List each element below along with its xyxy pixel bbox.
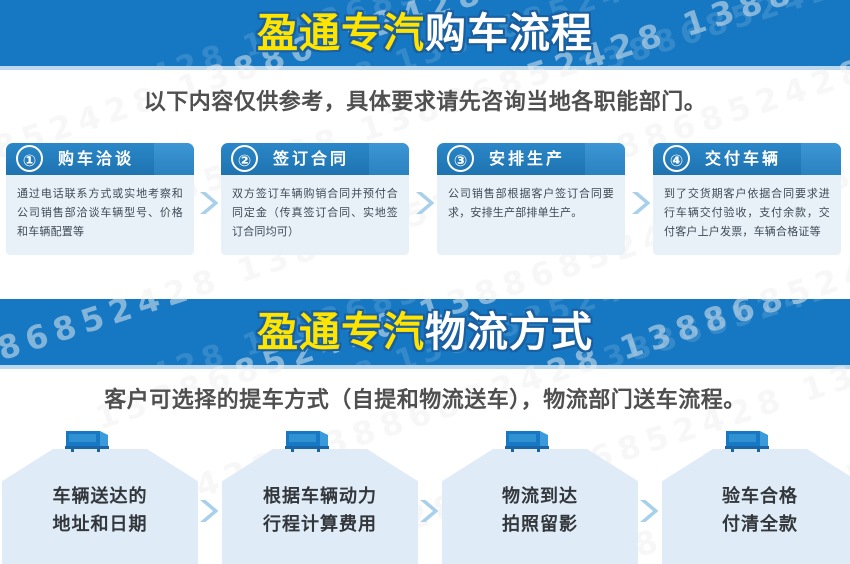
step-body-text: 双方签订车辆购销合同并预付合同定金（传真签订合同、实地签订合同均可） — [221, 175, 409, 255]
promo-page: 13886852428 13886852428 13886852428 1388… — [0, 0, 850, 564]
logistics-steps-row: 车辆送达的 地址和日期 根据车辆动力 行程计算费用 — [0, 425, 850, 564]
logistics-card-line-2: 行程计算费用 — [222, 511, 418, 539]
purchase-step-card-1[interactable]: ① 购车洽谈 通过电话联系方式或实地考察和公司销售部洽谈车辆型号、价格和车辆配置… — [6, 143, 194, 255]
logistics-card-text: 验车合格 付清全款 — [662, 483, 850, 539]
purchase-banner-heading: 购车流程 — [425, 9, 593, 57]
logistics-card-text: 物流到达 拍照留影 — [442, 483, 638, 539]
purchase-step-card-4[interactable]: ④ 交付车辆 到了交货期客户依据合同要求进行车辆交付验收，支付余款，交付客户上户… — [653, 143, 841, 255]
purchase-banner-brand: 盈通专汽 — [257, 9, 425, 57]
step-number-badge: ③ — [447, 145, 474, 172]
purchase-step-header-3: ③ 安排生产 — [437, 143, 625, 175]
step-title: 购车洽谈 — [58, 143, 134, 175]
purchase-steps-row: ① 购车洽谈 通过电话联系方式或实地考察和公司销售部洽谈车辆型号、价格和车辆配置… — [0, 143, 850, 258]
truck-icon — [64, 427, 118, 453]
logistics-card-line-1: 根据车辆动力 — [222, 483, 418, 511]
chevron-right-icon — [196, 189, 218, 217]
truck-icon — [284, 427, 338, 453]
logistics-banner-title: 盈通专汽物流方式 — [0, 299, 850, 365]
purchase-step-header-1: ① 购车洽谈 — [6, 143, 194, 175]
logistics-card-text: 根据车辆动力 行程计算费用 — [222, 483, 418, 539]
step-title: 签订合同 — [273, 143, 349, 175]
chevron-right-icon — [196, 497, 218, 525]
logistics-step-card-4[interactable]: 验车合格 付清全款 — [662, 425, 850, 564]
purchase-step-card-3[interactable]: ③ 安排生产 公司销售部根据客户签订合同要求，安排生产部排单生产。 — [437, 143, 625, 255]
purchase-step-header-2: ② 签订合同 — [221, 143, 409, 175]
step-number-badge: ④ — [663, 145, 690, 172]
purchase-banner-title: 盈通专汽购车流程 — [0, 0, 850, 66]
logistics-card-line-2: 地址和日期 — [2, 511, 198, 539]
step-title: 交付车辆 — [705, 143, 781, 175]
step-body-text: 到了交货期客户依据合同要求进行车辆交付验收，支付余款，交付客户上户发票，车辆合格… — [653, 175, 841, 255]
logistics-card-line-1: 物流到达 — [442, 483, 638, 511]
step-number-badge: ① — [16, 145, 43, 172]
purchase-step-card-2[interactable]: ② 签订合同 双方签订车辆购销合同并预付合同定金（传真签订合同、实地签订合同均可… — [221, 143, 409, 255]
logistics-step-card-1[interactable]: 车辆送达的 地址和日期 — [2, 425, 198, 564]
logistics-banner: 13886852428 13886852428 13886852428 1388… — [0, 299, 850, 369]
truck-icon — [724, 427, 778, 453]
step-body-text: 公司销售部根据客户签订合同要求，安排生产部排单生产。 — [437, 175, 625, 255]
truck-icon — [504, 427, 558, 453]
logistics-subtitle: 客户可选择的提车方式（自提和物流送车），物流部门送车流程。 — [0, 382, 850, 414]
logistics-banner-brand: 盈通专汽 — [257, 308, 425, 356]
chevron-right-icon — [416, 497, 438, 525]
chevron-right-icon — [628, 189, 650, 217]
logistics-step-card-2[interactable]: 根据车辆动力 行程计算费用 — [222, 425, 418, 564]
logistics-banner-heading: 物流方式 — [425, 308, 593, 356]
logistics-card-line-2: 拍照留影 — [442, 511, 638, 539]
logistics-card-line-2: 付清全款 — [662, 511, 850, 539]
logistics-card-text: 车辆送达的 地址和日期 — [2, 483, 198, 539]
chevron-right-icon — [412, 189, 434, 217]
chevron-right-icon — [636, 497, 658, 525]
logistics-card-line-1: 验车合格 — [662, 483, 850, 511]
purchase-step-header-4: ④ 交付车辆 — [653, 143, 841, 175]
step-body-text: 通过电话联系方式或实地考察和公司销售部洽谈车辆型号、价格和车辆配置等 — [6, 175, 194, 255]
purchase-subtitle: 以下内容仅供参考，具体要求请先咨询当地各职能部门。 — [0, 84, 850, 116]
logistics-step-card-3[interactable]: 物流到达 拍照留影 — [442, 425, 638, 564]
step-number-badge: ② — [231, 145, 258, 172]
logistics-card-line-1: 车辆送达的 — [2, 483, 198, 511]
purchase-banner: 13886852428 13886852428 13886852428 1388… — [0, 0, 850, 70]
step-title: 安排生产 — [489, 143, 565, 175]
